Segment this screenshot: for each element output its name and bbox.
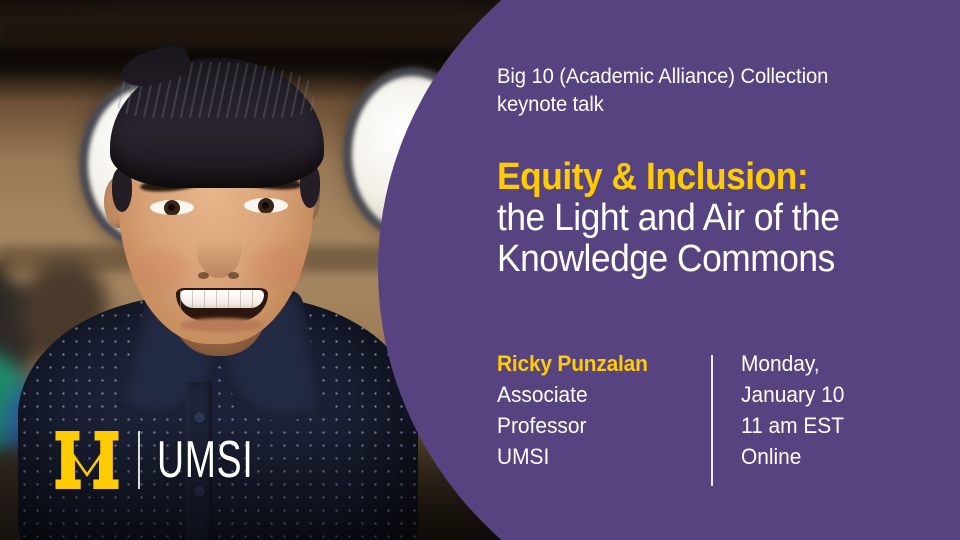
- speaker-name: Ricky Punzalan: [497, 348, 700, 379]
- talk-title-line-1: the Light and Air of the: [497, 198, 917, 239]
- talk-title-line-2: Knowledge Commons: [497, 239, 917, 280]
- block-m-icon: [55, 431, 119, 489]
- event-location: Online: [741, 441, 931, 472]
- talk-title-accent: Equity & Inclusion:: [497, 157, 917, 198]
- event-details: Monday, January 10 11 am EST Online: [741, 348, 931, 472]
- event-series-label: Big 10 (Academic Alliance) Collection ke…: [497, 62, 918, 118]
- speaker-title-line-1: Associate: [497, 379, 700, 410]
- event-time: 11 am EST: [741, 410, 931, 441]
- event-promo-poster: Big 10 (Academic Alliance) Collection ke…: [0, 0, 960, 540]
- speaker-info: Ricky Punzalan Associate Professor UMSI: [497, 348, 700, 472]
- credits-block: Ricky Punzalan Associate Professor UMSI …: [497, 348, 949, 472]
- credits-divider: [711, 355, 713, 486]
- umsi-wordmark: UMSI: [157, 434, 253, 486]
- speaker-affiliation: UMSI: [497, 441, 700, 472]
- logo-divider: [138, 431, 140, 489]
- event-date: January 10: [741, 379, 931, 410]
- poster-content: Big 10 (Academic Alliance) Collection ke…: [497, 0, 949, 540]
- talk-title: Equity & Inclusion: the Light and Air of…: [497, 157, 917, 280]
- event-day: Monday,: [741, 348, 931, 379]
- speaker-title-line-2: Professor: [497, 410, 700, 441]
- umsi-logo: UMSI: [55, 430, 291, 490]
